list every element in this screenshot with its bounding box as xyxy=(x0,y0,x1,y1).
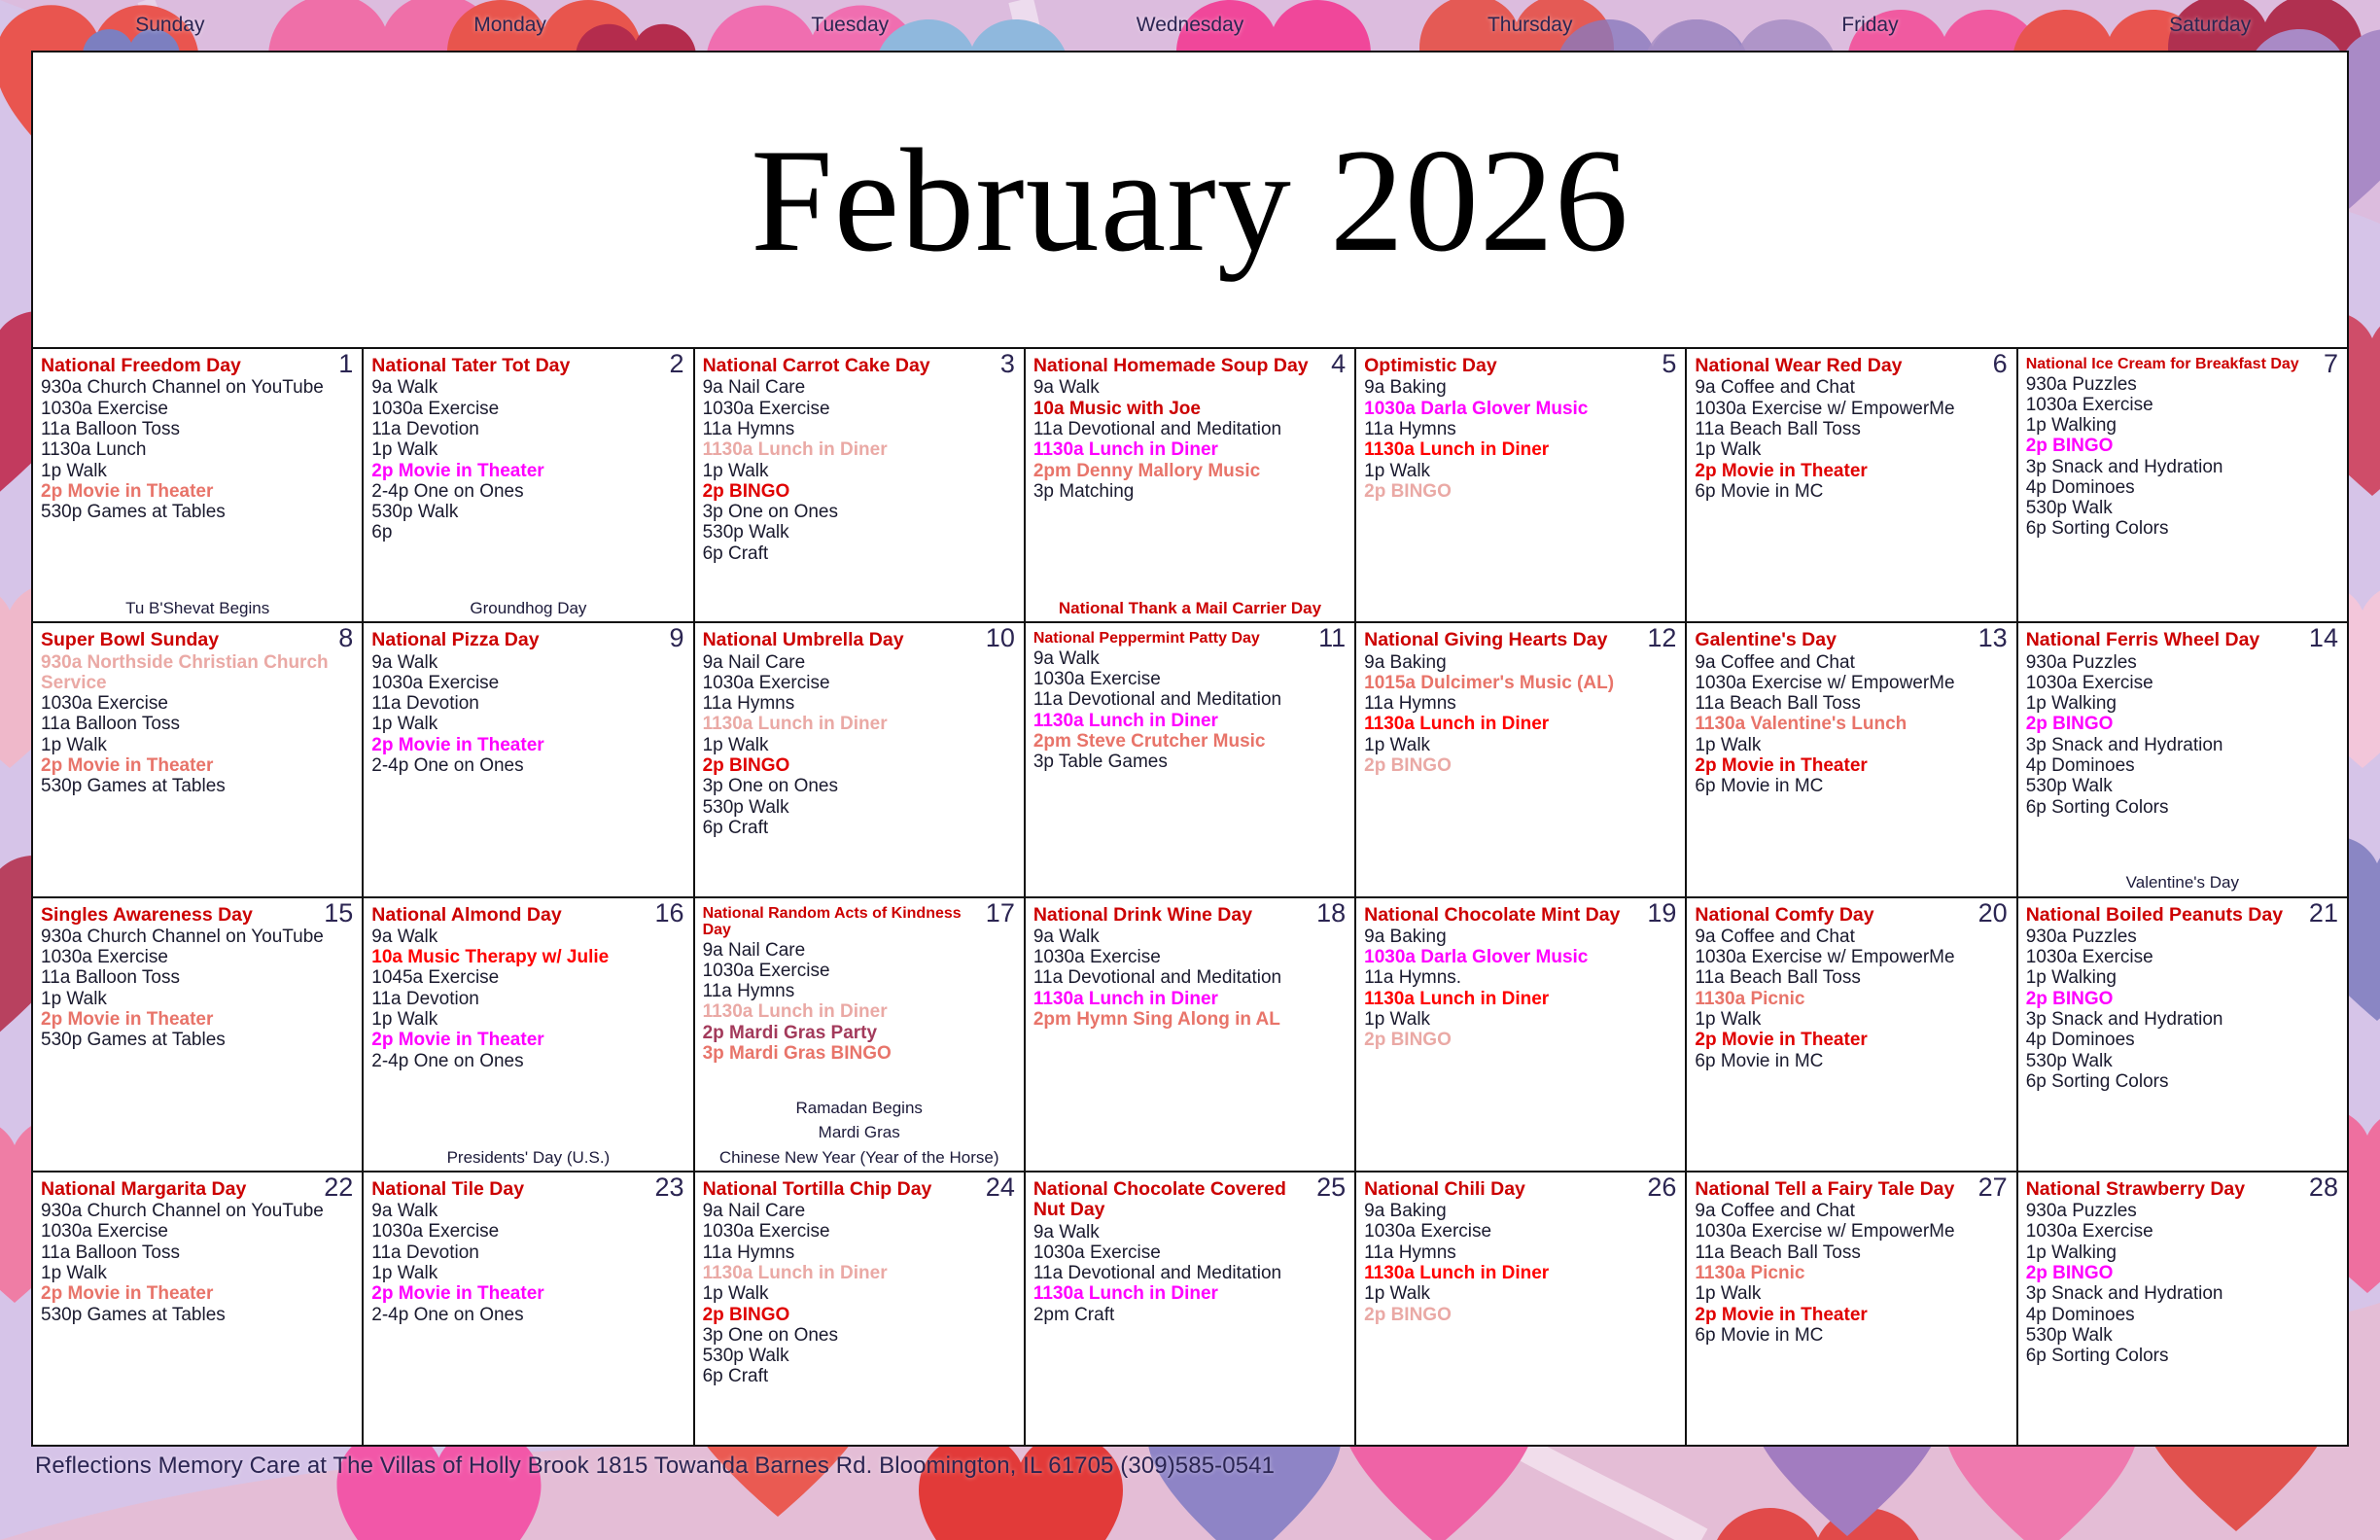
calendar-day-cell-21[interactable]: 21National Boiled Peanuts Day930a Puzzle… xyxy=(2018,898,2347,1171)
event-item: 1130a Lunch in Diner xyxy=(1364,989,1677,1009)
event-item: 530p Walk xyxy=(2026,498,2339,518)
event-item: 1p Walk xyxy=(371,714,684,734)
event-list: 9a Coffee and Chat1030a Exercise w/ Empo… xyxy=(1695,377,2008,502)
calendar-day-cell-27[interactable]: 27National Tell a Fairy Tale Day9a Coffe… xyxy=(1687,1172,2017,1445)
holiday-note: Ramadan Begins xyxy=(695,1098,1024,1118)
day-number: 16 xyxy=(655,900,684,927)
event-item: 3p One on Ones xyxy=(703,1325,1016,1346)
observance-title: National Freedom Day xyxy=(41,356,354,376)
event-item: 2p Movie in Theater xyxy=(1695,755,2008,776)
calendar-week-row: 1National Freedom Day930a Church Channel… xyxy=(33,347,2347,621)
event-item: 1030a Exercise xyxy=(703,961,1016,981)
holiday-note: Chinese New Year (Year of the Horse) xyxy=(695,1147,1024,1168)
event-item: 3p Snack and Hydration xyxy=(2026,457,2339,477)
event-item: 1p Walking xyxy=(2026,693,2339,714)
event-item: 530p Walk xyxy=(2026,1051,2339,1071)
calendar-day-cell-16[interactable]: 16National Almond Day9a Walk10a Music Th… xyxy=(364,898,694,1171)
event-item: 2p Movie in Theater xyxy=(371,735,684,755)
observance-title: National Boiled Peanuts Day xyxy=(2026,905,2339,926)
event-item: 2p Movie in Theater xyxy=(371,1030,684,1050)
event-item: 1030a Exercise xyxy=(703,399,1016,419)
weekday-wednesday: Wednesday xyxy=(1020,0,1360,51)
observance-title: National Comfy Day xyxy=(1695,905,2008,926)
weekday-thursday: Thursday xyxy=(1360,0,1700,51)
event-list: 9a Walk1030a Exercise11a Devotional and … xyxy=(1033,648,1347,773)
event-item: 6p Movie in MC xyxy=(1695,776,2008,796)
event-item: 1030a Exercise xyxy=(2026,395,2339,415)
event-item: 11a Devotional and Meditation xyxy=(1033,419,1347,439)
event-item: 530p Walk xyxy=(2026,776,2339,796)
event-item: 9a Walk xyxy=(1033,377,1347,398)
event-item: 530p Walk xyxy=(703,1346,1016,1366)
observance-title: Galentine's Day xyxy=(1695,630,2008,650)
calendar-grid: 1National Freedom Day930a Church Channel… xyxy=(33,347,2347,1445)
event-item: 11a Devotion xyxy=(371,989,684,1009)
event-item: 2p Movie in Theater xyxy=(371,461,684,481)
holiday-notes: Valentine's Day xyxy=(2018,868,2347,892)
event-item: 3p One on Ones xyxy=(703,776,1016,796)
event-item: 2pm Denny Mallory Music xyxy=(1033,461,1347,481)
event-item: 2p BINGO xyxy=(1364,1305,1677,1325)
event-item: 930a Puzzles xyxy=(2026,927,2339,947)
event-item: 3p Snack and Hydration xyxy=(2026,1283,2339,1304)
calendar-day-cell-11[interactable]: 11National Peppermint Patty Day9a Walk10… xyxy=(1026,623,1356,895)
event-item: 9a Baking xyxy=(1364,1201,1677,1221)
event-item: 2p BINGO xyxy=(2026,1263,2339,1283)
event-list: 9a Baking1015a Dulcimer's Music (AL)11a … xyxy=(1364,652,1677,777)
day-number: 1 xyxy=(338,351,353,377)
event-item: 2p BINGO xyxy=(1364,1030,1677,1050)
event-item: 2p BINGO xyxy=(703,1305,1016,1325)
event-item: 11a Balloon Toss xyxy=(41,714,354,734)
event-item: 3p Matching xyxy=(1033,481,1347,502)
observance-title: National Chocolate Covered Nut Day xyxy=(1033,1179,1347,1221)
day-number: 26 xyxy=(1647,1174,1676,1201)
holiday-notes: National Thank a Mail Carrier Day xyxy=(1026,594,1354,618)
event-item: 6p Sorting Colors xyxy=(2026,797,2339,818)
event-item: 1130a Lunch in Diner xyxy=(1364,714,1677,734)
event-item: 2p BINGO xyxy=(2026,436,2339,456)
event-list: 930a Northside Christian Church Service1… xyxy=(41,652,354,797)
calendar-day-cell-14[interactable]: 14National Ferris Wheel Day930a Puzzles1… xyxy=(2018,623,2347,895)
event-item: 530p Games at Tables xyxy=(41,1305,354,1325)
observance-title: National Margarita Day xyxy=(41,1179,354,1200)
day-number: 5 xyxy=(1662,351,1676,377)
observance-title: National Umbrella Day xyxy=(703,630,1016,650)
event-list: 930a Church Channel on YouTube1030a Exer… xyxy=(41,1201,354,1325)
observance-title: National Tell a Fairy Tale Day xyxy=(1695,1179,2008,1200)
event-item: 9a Baking xyxy=(1364,652,1677,673)
event-item: 1p Walk xyxy=(41,461,354,481)
event-item: 2pm Steve Crutcher Music xyxy=(1033,731,1347,752)
event-list: 9a Coffee and Chat1030a Exercise w/ Empo… xyxy=(1695,1201,2008,1346)
event-list: 9a Walk10a Music Therapy w/ Julie1045a E… xyxy=(371,927,684,1071)
day-number: 22 xyxy=(324,1174,353,1201)
event-item: 1030a Exercise w/ EmpowerMe xyxy=(1695,673,2008,693)
holiday-note: National Thank a Mail Carrier Day xyxy=(1026,598,1354,618)
calendar-title: February 2026 xyxy=(751,126,1629,274)
event-item: 9a Nail Care xyxy=(703,377,1016,398)
event-item: 2p Movie in Theater xyxy=(1695,461,2008,481)
event-item: 2-4p One on Ones xyxy=(371,481,684,502)
event-item: 1p Walking xyxy=(2026,1242,2339,1263)
calendar-day-cell-23[interactable]: 23National Tile Day9a Walk1030a Exercise… xyxy=(364,1172,694,1445)
event-item: 1030a Exercise w/ EmpowerMe xyxy=(1695,947,2008,967)
calendar-week-row: 15Singles Awareness Day930a Church Chann… xyxy=(33,896,2347,1171)
holiday-notes: Presidents' Day (U.S.) xyxy=(364,1143,692,1168)
event-item: 10a Music with Joe xyxy=(1033,399,1347,419)
event-list: 9a Baking1030a Exercise11a Hymns1130a Lu… xyxy=(1364,1201,1677,1325)
day-number: 19 xyxy=(1647,900,1676,927)
event-item: 11a Beach Ball Toss xyxy=(1695,1242,2008,1263)
event-item: 530p Games at Tables xyxy=(41,776,354,796)
event-item: 9a Walk xyxy=(1033,648,1347,669)
day-number: 9 xyxy=(670,625,684,651)
observance-title: Optimistic Day xyxy=(1364,356,1677,376)
calendar-day-cell-10[interactable]: 10National Umbrella Day9a Nail Care1030a… xyxy=(695,623,1026,895)
event-list: 930a Puzzles1030a Exercise1p Walking2p B… xyxy=(2026,927,2339,1092)
calendar-day-cell-6[interactable]: 6National Wear Red Day9a Coffee and Chat… xyxy=(1687,349,2017,621)
event-item: 9a Baking xyxy=(1364,377,1677,398)
event-list: 930a Puzzles1030a Exercise1p Walking2p B… xyxy=(2026,374,2339,540)
weekday-saturday: Saturday xyxy=(2040,0,2380,51)
event-item: 2-4p One on Ones xyxy=(371,755,684,776)
event-item: 1p Walk xyxy=(1364,735,1677,755)
calendar-week-row: 8Super Bowl Sunday930a Northside Christi… xyxy=(33,621,2347,895)
event-item: 1130a Lunch in Diner xyxy=(1033,439,1347,460)
observance-title: Super Bowl Sunday xyxy=(41,630,354,650)
day-number: 2 xyxy=(670,351,684,377)
event-item: 1p Walk xyxy=(1695,439,2008,460)
event-item: 1p Walk xyxy=(371,1009,684,1030)
event-item: 1030a Exercise xyxy=(41,947,354,967)
calendar-day-cell-15[interactable]: 15Singles Awareness Day930a Church Chann… xyxy=(33,898,364,1171)
event-item: 930a Puzzles xyxy=(2026,1201,2339,1221)
event-item: 2-4p One on Ones xyxy=(371,1305,684,1325)
event-item: 9a Nail Care xyxy=(703,652,1016,673)
calendar-day-cell-17[interactable]: 17National Random Acts of Kindness Day9a… xyxy=(695,898,1026,1171)
calendar-day-cell-20[interactable]: 20National Comfy Day9a Coffee and Chat10… xyxy=(1687,898,2017,1171)
event-list: 9a Baking1030a Darla Glover Music11a Hym… xyxy=(1364,927,1677,1051)
event-item: 11a Devotion xyxy=(371,1242,684,1263)
event-item: 11a Devotional and Meditation xyxy=(1033,689,1347,710)
event-item: 530p Games at Tables xyxy=(41,1030,354,1050)
event-item: 1p Walk xyxy=(1364,461,1677,481)
observance-title: National Homemade Soup Day xyxy=(1033,356,1347,376)
event-item: 1130a Lunch in Diner xyxy=(703,1001,1016,1022)
event-item: 930a Church Channel on YouTube xyxy=(41,377,354,398)
event-item: 1030a Exercise xyxy=(371,399,684,419)
event-item: 930a Church Channel on YouTube xyxy=(41,1201,354,1221)
day-number: 21 xyxy=(2309,900,2338,927)
event-item: 10a Music Therapy w/ Julie xyxy=(371,947,684,967)
event-item: 2p Movie in Theater xyxy=(1695,1030,2008,1050)
event-item: 530p Walk xyxy=(703,797,1016,818)
event-item: 2p BINGO xyxy=(703,481,1016,502)
event-item: 1130a Lunch in Diner xyxy=(1033,711,1347,731)
event-list: 9a Walk1030a Exercise11a Devotion1p Walk… xyxy=(371,1201,684,1325)
event-list: 9a Nail Care1030a Exercise11a Hymns1130a… xyxy=(703,940,1016,1065)
event-item: 1130a Lunch xyxy=(41,439,354,460)
event-item: 2p BINGO xyxy=(2026,989,2339,1009)
event-item: 1045a Exercise xyxy=(371,967,684,988)
holiday-notes: Ramadan BeginsMardi GrasChinese New Year… xyxy=(695,1094,1024,1168)
holiday-notes: Tu B'Shevat Begins xyxy=(33,594,362,618)
event-item: 11a Hymns xyxy=(703,419,1016,439)
observance-title: National Almond Day xyxy=(371,905,684,926)
event-item: 11a Beach Ball Toss xyxy=(1695,693,2008,714)
event-item: 6p Craft xyxy=(703,818,1016,838)
event-item: 11a Hymns xyxy=(703,1242,1016,1263)
event-list: 9a Nail Care1030a Exercise11a Hymns1130a… xyxy=(703,377,1016,563)
event-item: 6p Movie in MC xyxy=(1695,481,2008,502)
event-item: 3p Table Games xyxy=(1033,752,1347,772)
event-item: 1p Walk xyxy=(371,1263,684,1283)
event-item: 11a Beach Ball Toss xyxy=(1695,419,2008,439)
event-item: 9a Walk xyxy=(371,1201,684,1221)
event-item: 1p Walk xyxy=(703,461,1016,481)
event-item: 6p Sorting Colors xyxy=(2026,1346,2339,1366)
event-item: 530p Walk xyxy=(371,502,684,522)
event-item: 2p BINGO xyxy=(1364,755,1677,776)
event-item: 530p Games at Tables xyxy=(41,502,354,522)
calendar-day-cell-25[interactable]: 25National Chocolate Covered Nut Day9a W… xyxy=(1026,1172,1356,1445)
event-list: 9a Nail Care1030a Exercise11a Hymns1130a… xyxy=(703,652,1016,838)
event-item: 1130a Picnic xyxy=(1695,1263,2008,1283)
event-list: 9a Nail Care1030a Exercise11a Hymns1130a… xyxy=(703,1201,1016,1386)
event-item: 9a Nail Care xyxy=(703,1201,1016,1221)
calendar-day-cell-13[interactable]: 13Galentine's Day9a Coffee and Chat1030a… xyxy=(1687,623,2017,895)
event-item: 1130a Valentine's Lunch xyxy=(1695,714,2008,734)
event-item: 2p Movie in Theater xyxy=(371,1283,684,1304)
event-item: 9a Coffee and Chat xyxy=(1695,927,2008,947)
event-item: 2-4p One on Ones xyxy=(371,1051,684,1071)
event-item: 2p Movie in Theater xyxy=(1695,1305,2008,1325)
day-number: 6 xyxy=(1993,351,2008,377)
event-item: 1030a Darla Glover Music xyxy=(1364,947,1677,967)
event-item: 1p Walk xyxy=(41,1263,354,1283)
event-list: 9a Coffee and Chat1030a Exercise w/ Empo… xyxy=(1695,652,2008,797)
facility-address: Reflections Memory Care at The Villas of… xyxy=(35,1452,2349,1480)
day-number: 18 xyxy=(1316,900,1346,927)
event-item: 11a Hymns xyxy=(703,981,1016,1001)
event-item: 1p Walk xyxy=(1695,1009,2008,1030)
event-item: 6p Sorting Colors xyxy=(2026,518,2339,539)
calendar-day-cell-2[interactable]: 2National Tater Tot Day9a Walk1030a Exer… xyxy=(364,349,694,621)
day-number: 17 xyxy=(986,900,1015,927)
event-item: 1015a Dulcimer's Music (AL) xyxy=(1364,673,1677,693)
holiday-note: Groundhog Day xyxy=(364,598,692,618)
observance-title: National Ice Cream for Breakfast Day xyxy=(2026,356,2339,373)
calendar-day-cell-9[interactable]: 9National Pizza Day9a Walk1030a Exercise… xyxy=(364,623,694,895)
event-item: 1030a Exercise xyxy=(371,673,684,693)
weekday-tuesday: Tuesday xyxy=(680,0,1020,51)
event-item: 11a Hymns xyxy=(703,693,1016,714)
calendar-day-cell-8[interactable]: 8Super Bowl Sunday930a Northside Christi… xyxy=(33,623,364,895)
event-item: 11a Devotion xyxy=(371,419,684,439)
event-item: 2p Movie in Theater xyxy=(41,1283,354,1304)
event-item: 1p Walking xyxy=(2026,415,2339,436)
event-item: 9a Nail Care xyxy=(703,940,1016,961)
day-number: 11 xyxy=(1318,625,1346,651)
event-item: 1130a Lunch in Diner xyxy=(703,714,1016,734)
observance-title: National Drink Wine Day xyxy=(1033,905,1347,926)
day-number: 3 xyxy=(1000,351,1015,377)
event-item: 1130a Lunch in Diner xyxy=(1364,1263,1677,1283)
day-number: 4 xyxy=(1331,351,1346,377)
day-number: 27 xyxy=(1978,1174,2008,1201)
holiday-note: Valentine's Day xyxy=(2018,872,2347,892)
calendar-day-cell-22[interactable]: 22National Margarita Day930a Church Chan… xyxy=(33,1172,364,1445)
event-item: 1030a Exercise xyxy=(2026,673,2339,693)
event-item: 930a Northside Christian Church Service xyxy=(41,652,354,694)
event-item: 2p BINGO xyxy=(703,755,1016,776)
holiday-note: Mardi Gras xyxy=(695,1122,1024,1142)
event-item: 1030a Exercise xyxy=(41,399,354,419)
event-item: 3p Snack and Hydration xyxy=(2026,735,2339,755)
event-item: 1030a Exercise xyxy=(703,673,1016,693)
event-item: 4p Dominoes xyxy=(2026,755,2339,776)
event-item: 11a Beach Ball Toss xyxy=(1695,967,2008,988)
event-item: 11a Devotional and Meditation xyxy=(1033,1263,1347,1283)
event-item: 4p Dominoes xyxy=(2026,477,2339,498)
observance-title: National Random Acts of Kindness Day xyxy=(703,905,1016,939)
event-item: 3p One on Ones xyxy=(703,502,1016,522)
calendar-day-cell-26[interactable]: 26National Chili Day9a Baking1030a Exerc… xyxy=(1356,1172,1687,1445)
observance-title: National Chocolate Mint Day xyxy=(1364,905,1677,926)
event-item: 1p Walk xyxy=(1695,735,2008,755)
event-list: 9a Walk1030a Exercise11a Devotional and … xyxy=(1033,927,1347,1030)
event-item: 4p Dominoes xyxy=(2026,1030,2339,1050)
calendar-day-cell-4[interactable]: 4National Homemade Soup Day9a Walk10a Mu… xyxy=(1026,349,1356,621)
day-number: 28 xyxy=(2309,1174,2338,1201)
event-item: 1130a Lunch in Diner xyxy=(703,1263,1016,1283)
event-item: 1130a Lunch in Diner xyxy=(1033,989,1347,1009)
event-item: 9a Coffee and Chat xyxy=(1695,1201,2008,1221)
event-list: 930a Puzzles1030a Exercise1p Walking2p B… xyxy=(2026,1201,2339,1366)
observance-title: National Wear Red Day xyxy=(1695,356,2008,376)
event-item: 6p Movie in MC xyxy=(1695,1051,2008,1071)
calendar-week-row: 22National Margarita Day930a Church Chan… xyxy=(33,1171,2347,1445)
event-item: 2p BINGO xyxy=(1364,481,1677,502)
observance-title: National Tile Day xyxy=(371,1179,684,1200)
event-item: 11a Balloon Toss xyxy=(41,1242,354,1263)
event-item: 1130a Lunch in Diner xyxy=(1364,439,1677,460)
observance-title: National Ferris Wheel Day xyxy=(2026,630,2339,650)
observance-title: National Pizza Day xyxy=(371,630,684,650)
observance-title: National Strawberry Day xyxy=(2026,1179,2339,1200)
event-item: 11a Devotional and Meditation xyxy=(1033,967,1347,988)
calendar-day-cell-5[interactable]: 5Optimistic Day9a Baking1030a Darla Glov… xyxy=(1356,349,1687,621)
event-item: 530p Walk xyxy=(2026,1325,2339,1346)
event-item: 11a Balloon Toss xyxy=(41,419,354,439)
event-item: 1030a Exercise w/ EmpowerMe xyxy=(1695,1221,2008,1242)
event-item: 9a Walk xyxy=(371,927,684,947)
day-number: 25 xyxy=(1316,1174,1346,1201)
day-number: 13 xyxy=(1978,625,2008,651)
event-item: 1030a Exercise xyxy=(41,693,354,714)
event-item: 6p Movie in MC xyxy=(1695,1325,2008,1346)
calendar-sheet: February 2026 1National Freedom Day930a … xyxy=(31,51,2349,1447)
event-item: 11a Hymns xyxy=(1364,419,1677,439)
event-item: 9a Baking xyxy=(1364,927,1677,947)
calendar-day-cell-24[interactable]: 24National Tortilla Chip Day9a Nail Care… xyxy=(695,1172,1026,1445)
event-item: 1p Walk xyxy=(371,439,684,460)
event-item: 1p Walk xyxy=(703,1283,1016,1304)
calendar-day-cell-3[interactable]: 3National Carrot Cake Day9a Nail Care103… xyxy=(695,349,1026,621)
observance-title: National Tortilla Chip Day xyxy=(703,1179,1016,1200)
event-item: 6p Sorting Colors xyxy=(2026,1071,2339,1092)
event-list: 9a Coffee and Chat1030a Exercise w/ Empo… xyxy=(1695,927,2008,1071)
calendar-day-cell-1[interactable]: 1National Freedom Day930a Church Channel… xyxy=(33,349,364,621)
event-item: 930a Puzzles xyxy=(2026,652,2339,673)
observance-title: National Giving Hearts Day xyxy=(1364,630,1677,650)
calendar-day-cell-18[interactable]: 18National Drink Wine Day9a Walk1030a Ex… xyxy=(1026,898,1356,1171)
event-item: 9a Walk xyxy=(1033,927,1347,947)
event-item: 1030a Exercise xyxy=(41,1221,354,1242)
event-list: 9a Walk1030a Exercise11a Devotion1p Walk… xyxy=(371,377,684,542)
day-number: 15 xyxy=(324,900,353,927)
observance-title: National Carrot Cake Day xyxy=(703,356,1016,376)
event-item: 1p Walk xyxy=(1364,1009,1677,1030)
observance-title: National Chili Day xyxy=(1364,1179,1677,1200)
event-item: 1130a Lunch in Diner xyxy=(1033,1283,1347,1304)
calendar-title-bar: February 2026 xyxy=(33,52,2347,347)
calendar-day-cell-19[interactable]: 19National Chocolate Mint Day9a Baking10… xyxy=(1356,898,1687,1171)
event-item: 4p Dominoes xyxy=(2026,1305,2339,1325)
event-item: 1130a Lunch in Diner xyxy=(703,439,1016,460)
observance-title: National Tater Tot Day xyxy=(371,356,684,376)
event-item: 9a Walk xyxy=(1033,1222,1347,1242)
event-item: 6p xyxy=(371,522,684,542)
event-item: 1130a Picnic xyxy=(1695,989,2008,1009)
holiday-note: Presidents' Day (U.S.) xyxy=(364,1147,692,1168)
event-list: 9a Walk1030a Exercise11a Devotional and … xyxy=(1033,1222,1347,1325)
event-item: 1p Walking xyxy=(2026,967,2339,988)
day-number: 10 xyxy=(986,625,1015,651)
event-item: 930a Church Channel on YouTube xyxy=(41,927,354,947)
event-item: 1030a Darla Glover Music xyxy=(1364,399,1677,419)
day-number: 24 xyxy=(986,1174,1015,1201)
event-list: 9a Baking1030a Darla Glover Music11a Hym… xyxy=(1364,377,1677,502)
day-number: 8 xyxy=(338,625,353,651)
event-item: 930a Puzzles xyxy=(2026,374,2339,395)
event-item: 1030a Exercise xyxy=(2026,1221,2339,1242)
event-item: 3p Mardi Gras BINGO xyxy=(703,1043,1016,1064)
event-list: 930a Church Channel on YouTube1030a Exer… xyxy=(41,377,354,522)
event-item: 2p BINGO xyxy=(2026,714,2339,734)
day-number: 7 xyxy=(2324,351,2338,377)
day-number: 14 xyxy=(2309,625,2338,651)
event-item: 9a Walk xyxy=(371,377,684,398)
event-item: 1030a Exercise xyxy=(703,1221,1016,1242)
day-number: 20 xyxy=(1978,900,2008,927)
event-item: 11a Devotion xyxy=(371,693,684,714)
calendar-day-cell-12[interactable]: 12National Giving Hearts Day9a Baking101… xyxy=(1356,623,1687,895)
event-item: 2p Movie in Theater xyxy=(41,481,354,502)
event-item: 11a Hymns xyxy=(1364,693,1677,714)
observance-title: National Peppermint Patty Day xyxy=(1033,630,1347,647)
event-item: 1p Walk xyxy=(41,989,354,1009)
day-number: 12 xyxy=(1647,625,1676,651)
calendar-day-cell-28[interactable]: 28National Strawberry Day930a Puzzles103… xyxy=(2018,1172,2347,1445)
event-item: 1030a Exercise xyxy=(1033,947,1347,967)
calendar-day-cell-7[interactable]: 7National Ice Cream for Breakfast Day930… xyxy=(2018,349,2347,621)
event-item: 1030a Exercise w/ EmpowerMe xyxy=(1695,399,2008,419)
event-item: 530p Walk xyxy=(703,522,1016,542)
event-item: 1030a Exercise xyxy=(2026,947,2339,967)
weekday-monday: Monday xyxy=(340,0,681,51)
